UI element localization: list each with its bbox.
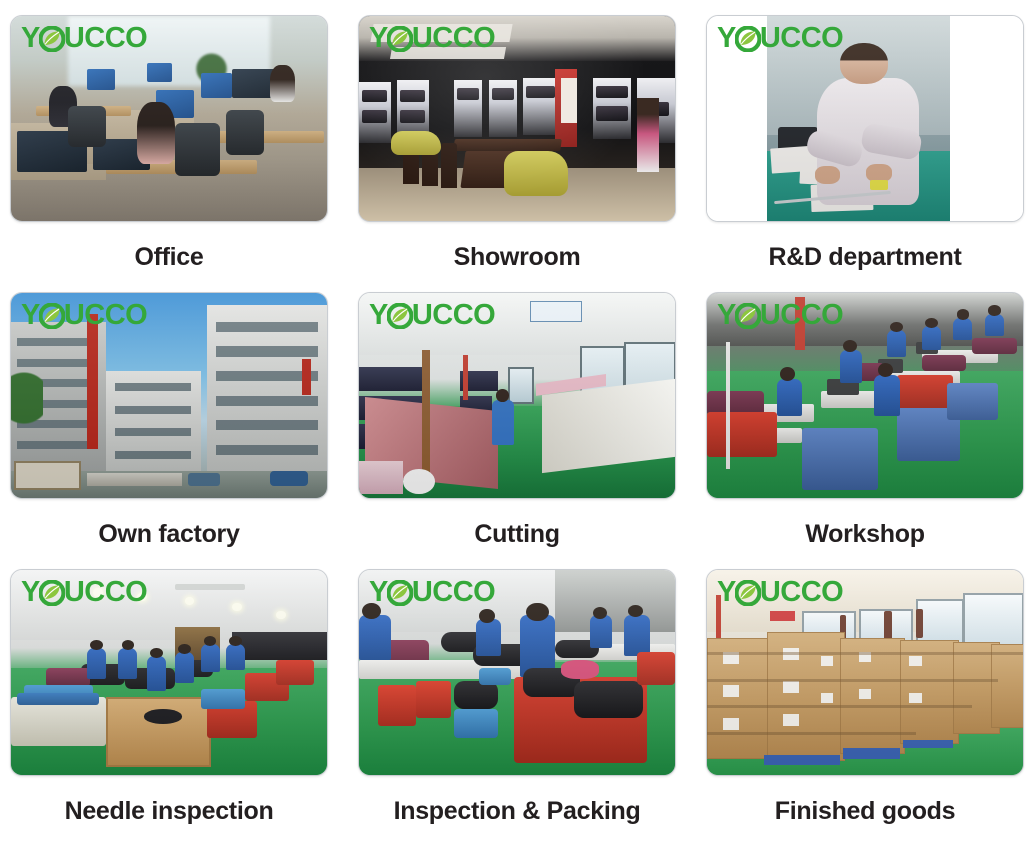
caption-packing: Inspection & Packing (394, 797, 641, 826)
gallery-cell-rd: Y UCCO R&D department (706, 15, 1024, 292)
gallery-card-packing[interactable]: Y UCCO (358, 569, 676, 776)
caption-cutting: Cutting (474, 520, 559, 549)
gallery-card-factory[interactable]: Y UCCO (10, 292, 328, 499)
photo-showroom (359, 16, 675, 221)
photo-rd-department (707, 16, 1023, 221)
photo-workshop (707, 293, 1023, 498)
caption-needle: Needle inspection (65, 797, 274, 826)
gallery-cell-needle: Y UCCO Needle inspection (10, 569, 328, 846)
gallery-card-rd[interactable]: Y UCCO (706, 15, 1024, 222)
photo-office (11, 16, 327, 221)
caption-goods: Finished goods (775, 797, 956, 826)
gallery-card-showroom[interactable]: Y UCCO (358, 15, 676, 222)
caption-showroom: Showroom (454, 243, 581, 272)
caption-factory: Own factory (98, 520, 239, 549)
gallery-card-needle[interactable]: Y UCCO (10, 569, 328, 776)
caption-workshop: Workshop (805, 520, 924, 549)
gallery-cell-cutting: Y UCCO Cutting (358, 292, 676, 569)
gallery-card-workshop[interactable]: Y UCCO (706, 292, 1024, 499)
gallery-cell-packing: Y UCCO Inspection & Packing (358, 569, 676, 846)
caption-rd: R&D department (768, 243, 961, 272)
photo-finished-goods (707, 570, 1023, 775)
gallery-cell-showroom: Y UCCO Showroom (358, 15, 676, 292)
gallery-cell-office: Y UCCO Office (10, 15, 328, 292)
factory-gallery: Y UCCO Office (0, 0, 1034, 846)
gallery-card-cutting[interactable]: Y UCCO (358, 292, 676, 499)
photo-own-factory (11, 293, 327, 498)
gallery-cell-goods: Y UCCO Finished goods (706, 569, 1024, 846)
gallery-cell-workshop: Y UCCO Workshop (706, 292, 1024, 569)
caption-office: Office (134, 243, 203, 272)
photo-inspection-packing (359, 570, 675, 775)
gallery-card-goods[interactable]: Y UCCO (706, 569, 1024, 776)
gallery-card-office[interactable]: Y UCCO (10, 15, 328, 222)
photo-needle-inspection (11, 570, 327, 775)
gallery-cell-factory: Y UCCO Own factory (10, 292, 328, 569)
photo-cutting (359, 293, 675, 498)
